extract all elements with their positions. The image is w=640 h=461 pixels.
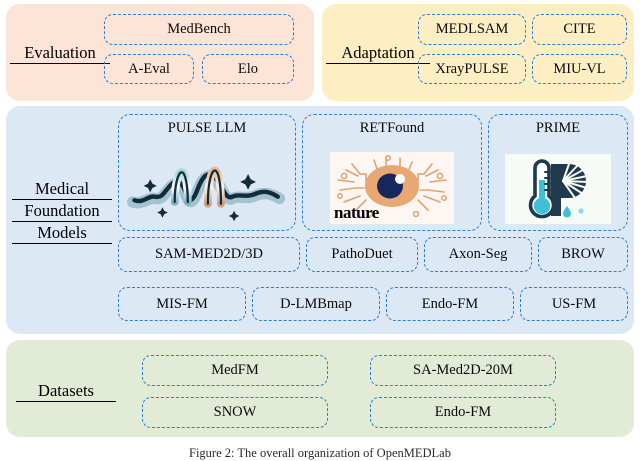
box-medfm-label: MedFM (211, 362, 259, 379)
section-label-foundation-models: Medical Foundation Models (12, 178, 112, 244)
thermometer-p-logo-card (505, 154, 611, 224)
box-sa-med2d-20m-label: SA-Med2D-20M (413, 362, 513, 379)
box-us-fm[interactable]: US-FM (520, 287, 628, 321)
box-mis-fm[interactable]: MIS-FM (118, 287, 246, 321)
box-d-lmbmap-label: D-LMBmap (280, 296, 352, 313)
box-sam-med2d-3d-label: SAM-MED2D/3D (155, 246, 263, 263)
box-us-fm-label: US-FM (552, 296, 596, 313)
box-brow[interactable]: BROW (538, 237, 628, 272)
box-elo-label: Elo (238, 61, 258, 78)
box-medfm[interactable]: MedFM (142, 355, 328, 386)
section-label-evaluation-text: Evaluation (10, 42, 110, 64)
box-xraypulse-label: XrayPULSE (435, 61, 508, 78)
box-elo[interactable]: Elo (202, 54, 294, 84)
section-label-foundation-line-1: Medical (12, 178, 112, 200)
box-pathoduet[interactable]: PathoDuet (306, 237, 418, 272)
box-axon-seg-label: Axon-Seg (449, 246, 508, 263)
section-label-foundation-line-2: Foundation (12, 200, 112, 222)
box-endo-fm-dataset[interactable]: Endo-FM (370, 397, 556, 428)
thermometer-p-logo (489, 154, 627, 224)
section-label-adaptation-text: Adaptation (326, 42, 430, 64)
box-medlsam-label: MEDLSAM (436, 21, 509, 38)
box-retfound[interactable]: RETFound (302, 114, 482, 231)
box-a-eval[interactable]: A-Eval (104, 54, 194, 84)
figure-overall-organization: Evaluation MedBench A-Eval Elo Adaptatio… (0, 0, 640, 457)
figure-caption: Figure 2: The overall organization of Op… (0, 446, 640, 461)
box-pulse-llm-label: PULSE LLM (119, 120, 295, 137)
box-prime[interactable]: PRIME (488, 114, 628, 231)
box-endo-fm-dataset-label: Endo-FM (435, 404, 491, 421)
section-label-datasets: Datasets (16, 380, 116, 402)
box-prime-label: PRIME (489, 120, 627, 137)
section-label-adaptation: Adaptation (326, 42, 430, 64)
box-a-eval-label: A-Eval (128, 61, 170, 78)
box-endo-fm-model-label: Endo-FM (422, 296, 478, 313)
box-medbench-label: MedBench (167, 21, 231, 38)
box-mis-fm-label: MIS-FM (156, 296, 208, 313)
box-brow-label: BROW (561, 246, 605, 263)
box-snow-label: SNOW (214, 404, 257, 421)
nature-eye-logo-card: nature (330, 152, 454, 224)
box-miu-vl-label: MIU-VL (553, 61, 605, 78)
box-medlsam[interactable]: MEDLSAM (418, 14, 526, 45)
box-cite-label: CITE (563, 21, 595, 38)
pulse-waveform-logo (119, 152, 295, 224)
box-pulse-llm[interactable]: PULSE LLM (118, 114, 296, 231)
box-medbench[interactable]: MedBench (104, 14, 294, 45)
nature-wordmark: nature (334, 203, 379, 223)
box-pathoduet-label: PathoDuet (331, 246, 392, 263)
box-miu-vl[interactable]: MIU-VL (532, 54, 627, 84)
box-d-lmbmap[interactable]: D-LMBmap (252, 287, 380, 321)
section-label-foundation-line-3: Models (12, 222, 112, 244)
box-snow[interactable]: SNOW (142, 397, 328, 428)
section-label-evaluation: Evaluation (10, 42, 110, 64)
box-xraypulse[interactable]: XrayPULSE (418, 54, 526, 84)
box-cite[interactable]: CITE (532, 14, 627, 45)
box-sa-med2d-20m[interactable]: SA-Med2D-20M (370, 355, 556, 386)
section-label-datasets-text: Datasets (16, 380, 116, 402)
box-endo-fm-model[interactable]: Endo-FM (386, 287, 514, 321)
nature-eye-logo: nature (303, 152, 481, 224)
box-axon-seg[interactable]: Axon-Seg (424, 237, 532, 272)
box-retfound-label: RETFound (303, 120, 481, 137)
box-sam-med2d-3d[interactable]: SAM-MED2D/3D (118, 237, 300, 272)
